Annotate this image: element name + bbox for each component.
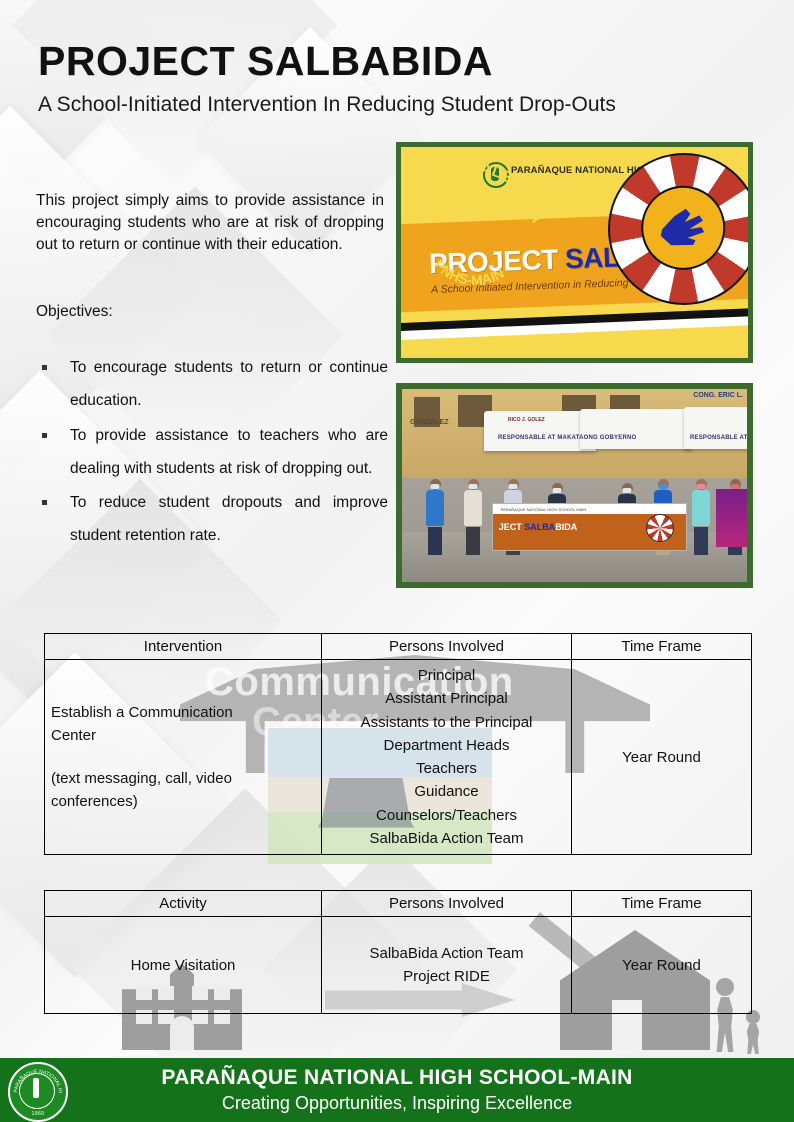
photo-tent — [684, 407, 753, 449]
ring-text-bottom: PNHS-MAIN — [431, 256, 507, 288]
table-row: Home Visitation SalbaBida Action Team Pr… — [45, 917, 752, 1014]
bullet-square-icon — [42, 365, 47, 370]
objectives-list: To encourage students to return or conti… — [36, 352, 388, 555]
column-header-persons-involved: Persons Involved — [322, 634, 572, 660]
photo-cong-sign: CONG. ERIC L. — [693, 392, 743, 399]
photo-person-body — [692, 490, 710, 526]
cell-time-frame: Year Round — [572, 660, 752, 855]
svg-text:PROJECT SALBABIDA: PROJECT SALBABIDA — [405, 160, 545, 225]
column-header-activity: Activity — [45, 891, 322, 917]
face-mask-icon — [431, 484, 440, 489]
page-title: PROJECT SALBABIDA — [38, 40, 754, 83]
cell-persons-involved: Principal Assistant Principal Assistants… — [322, 660, 572, 855]
photo-tent-main-text: RESPONSABLE AT MAKATAONG GOBYERNO — [498, 435, 636, 441]
photo-banner-bida: BIDA — [555, 522, 577, 532]
group-photo-image: GONZALEZ CONG. ERIC L. RICO J. GOLEZ RES… — [396, 383, 753, 588]
intervention-line-2: Center — [51, 724, 315, 747]
photo-person-legs — [428, 527, 442, 555]
project-description: This project simply aims to provide assi… — [36, 190, 384, 256]
bullet-square-icon — [42, 500, 47, 505]
photo-person — [426, 479, 444, 555]
photo-person-legs — [694, 527, 708, 555]
intervention-line-3: (text messaging, call, video — [51, 767, 315, 790]
photo-tent-right-text: RESPONSABLE AT — [690, 435, 747, 441]
person-role: SalbaBida Action Team — [328, 827, 565, 850]
face-mask-icon — [623, 488, 632, 493]
column-header-time-frame: Time Frame — [572, 891, 752, 917]
watermark-child-figure-icon — [744, 1018, 762, 1054]
project-banner-image: PARAÑAQUE NATIONAL HIGH SCHOOL MAIN PROJ… — [396, 142, 753, 363]
intervention-line-4: conferences) — [51, 790, 315, 813]
photo-building-sign: GONZALEZ — [410, 419, 449, 426]
table-row: Establish a Communication Center (text m… — [45, 660, 752, 855]
helping-hands-icon — [657, 201, 710, 252]
person-role: SalbaBida Action Team — [328, 942, 565, 965]
face-mask-icon — [659, 484, 668, 489]
intervention-table: Intervention Persons Involved Time Frame… — [44, 633, 752, 855]
column-header-time-frame: Time Frame — [572, 634, 752, 660]
photo-banner-title: JECT SALBABIDA — [499, 522, 578, 532]
person-role: Teachers — [328, 757, 565, 780]
photo-banner-salba: SALBA — [524, 522, 555, 532]
face-mask-icon — [469, 484, 478, 489]
photo-person — [464, 479, 482, 555]
photo-side-sign — [716, 489, 747, 547]
table-header-row: Activity Persons Involved Time Frame — [45, 891, 752, 917]
page-subtitle: A School-Initiated Intervention In Reduc… — [38, 93, 754, 117]
objectives-label: Objectives: — [36, 303, 384, 321]
photo-project-banner: PARAÑAQUE NATIONAL HIGH SCHOOL MAIN JECT… — [492, 503, 687, 551]
column-header-intervention: Intervention — [45, 634, 322, 660]
list-item: To reduce student dropouts and improve s… — [36, 487, 388, 553]
person-role: Assistants to the Principal — [328, 711, 565, 734]
photo-banner-ject: JECT — [499, 522, 525, 532]
face-mask-icon — [509, 484, 518, 489]
list-item: To encourage students to return or conti… — [36, 352, 388, 418]
poster-page: PROJECT SALBABIDA A School-Initiated Int… — [0, 0, 794, 1122]
ring-text: PROJECT SALBABIDA PNHS-MAIN — [401, 153, 549, 301]
ring-text-top: PROJECT SALBABIDA — [405, 160, 545, 225]
photo-tent — [580, 409, 692, 449]
column-header-persons-involved: Persons Involved — [322, 891, 572, 917]
face-mask-icon — [553, 488, 562, 493]
objective-text: To encourage students to return or conti… — [70, 352, 388, 418]
intervention-spacer — [51, 747, 315, 767]
person-role: Assistant Principal — [328, 687, 565, 710]
table-header-row: Intervention Persons Involved Time Frame — [45, 634, 752, 660]
photo-banner-header: PARAÑAQUE NATIONAL HIGH SCHOOL MAIN — [501, 507, 587, 512]
list-item: To provide assistance to teachers who ar… — [36, 420, 388, 486]
photo-tent-top-text: RICO J. GOLEZ — [508, 417, 545, 423]
photo-lifebuoy-icon — [646, 514, 674, 542]
intervention-line-1: Establish a Communication — [51, 701, 315, 724]
bullet-square-icon — [42, 433, 47, 438]
face-mask-icon — [697, 484, 706, 489]
person-role: Project RIDE — [328, 965, 565, 988]
photo-person — [692, 479, 710, 555]
person-role: Principal — [328, 664, 565, 687]
activity-table: Activity Persons Involved Time Frame Hom… — [44, 890, 752, 1014]
person-role: Counselors/Teachers — [328, 804, 565, 827]
photo-person-body — [426, 490, 444, 526]
cell-activity: Home Visitation — [45, 917, 322, 1014]
person-role: Guidance — [328, 780, 565, 803]
watermark-door — [170, 1016, 194, 1050]
photo-person-body — [464, 490, 482, 526]
cell-intervention: Establish a Communication Center (text m… — [45, 660, 322, 855]
cell-time-frame: Year Round — [572, 917, 752, 1014]
svg-text:PNHS-MAIN: PNHS-MAIN — [431, 256, 507, 288]
footer-motto: Creating Opportunities, Inspiring Excell… — [0, 1093, 794, 1114]
person-role: Department Heads — [328, 734, 565, 757]
poster-header: PROJECT SALBABIDA A School-Initiated Int… — [38, 40, 754, 117]
footer-school-name: PARAÑAQUE NATIONAL HIGH SCHOOL-MAIN — [0, 1066, 794, 1090]
objective-text: To reduce student dropouts and improve s… — [70, 487, 388, 553]
cell-persons-involved: SalbaBida Action Team Project RIDE — [322, 917, 572, 1014]
poster-footer: 1969 PARAÑAQUE NATIONAL HIGH SCHOOL PARA… — [0, 1058, 794, 1122]
face-mask-icon — [731, 484, 740, 489]
photo-person-legs — [466, 527, 480, 555]
objective-text: To provide assistance to teachers who ar… — [70, 420, 388, 486]
